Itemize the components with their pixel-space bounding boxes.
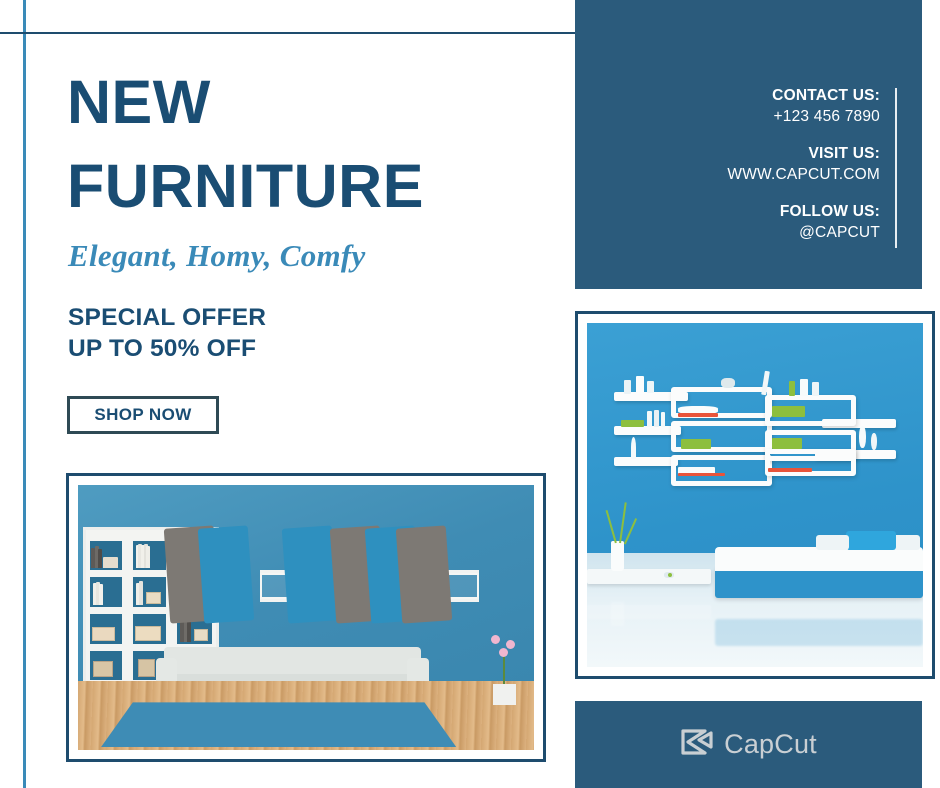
vertical-accent-line — [23, 0, 26, 788]
contact-label-phone: CONTACT US: — [727, 86, 880, 107]
cushion-teal-1 — [198, 526, 255, 625]
offer-line-1: SPECIAL OFFER — [68, 302, 266, 333]
bed-pillow-blue — [846, 531, 896, 550]
shelf-vase-tall-1 — [859, 426, 866, 448]
contact-label-website: VISIT US: — [727, 144, 880, 165]
bed-base — [715, 567, 923, 598]
capcut-logo-panel: CapCut — [575, 701, 922, 788]
shelf-red-line-1 — [678, 473, 725, 476]
area-rug — [101, 702, 457, 747]
shelf-green-box-2 — [772, 438, 802, 448]
capcut-wordmark: CapCut — [724, 729, 817, 760]
shelf-book-upright-2 — [654, 410, 658, 427]
contact-divider-line — [895, 88, 897, 248]
bedroom-photo — [587, 323, 923, 667]
shelf-bottle-2 — [812, 382, 819, 396]
living-room-photo — [78, 485, 534, 750]
shelf-green-box-3 — [681, 439, 711, 449]
cushion-grey-3 — [396, 526, 453, 625]
floating-shelf-3 — [614, 457, 678, 466]
contact-value-social[interactable]: @CAPCUT — [727, 223, 880, 244]
contact-block-website: VISIT US: WWW.CAPCUT.COM — [727, 144, 880, 186]
capcut-hourglass-icon — [680, 729, 714, 760]
contact-block-phone: CONTACT US: +123 456 7890 — [727, 86, 880, 128]
living-room-photo-frame — [66, 473, 546, 762]
bed-reflection — [715, 619, 923, 647]
shelf-lamp — [631, 437, 636, 459]
shelf-cup-2 — [636, 376, 644, 393]
plant-pot — [493, 684, 516, 705]
poster-canvas: CONTACT US: +123 456 7890 VISIT US: WWW.… — [0, 0, 940, 788]
contact-list: CONTACT US: +123 456 7890 VISIT US: WWW.… — [727, 86, 880, 244]
contact-block-social: FOLLOW US: @CAPCUT — [727, 202, 880, 244]
table-reflection — [587, 605, 711, 619]
contact-value-phone[interactable]: +123 456 7890 — [727, 107, 880, 128]
shelf-green-item — [789, 381, 796, 395]
shelf-green-box-1 — [772, 406, 806, 418]
shelf-green-book — [621, 420, 645, 427]
tagline: Elegant, Homy, Comfy — [68, 238, 366, 274]
floor-vase — [611, 541, 624, 570]
shelf-book-upright-3 — [661, 412, 665, 427]
vase-reflection — [611, 602, 624, 626]
shop-now-button[interactable]: SHOP NOW — [67, 396, 219, 434]
low-table — [587, 569, 711, 584]
shelf-bowl-small — [721, 378, 734, 388]
shelf-vase-tall-2 — [871, 433, 877, 450]
headline-line-2: FURNITURE — [67, 144, 424, 228]
contact-value-website[interactable]: WWW.CAPCUT.COM — [727, 165, 880, 186]
special-offer: SPECIAL OFFER UP TO 50% OFF — [68, 302, 266, 365]
bed-mattress — [715, 547, 923, 571]
headline-line-1: NEW — [67, 60, 424, 144]
contact-panel: CONTACT US: +123 456 7890 VISIT US: WWW.… — [575, 0, 922, 289]
shelf-bottle-1 — [800, 379, 807, 396]
shelf-box-6 — [765, 449, 856, 477]
bed-pillow-white-1 — [816, 535, 850, 550]
shelf-book-upright-1 — [647, 411, 651, 427]
offer-line-2: UP TO 50% OFF — [68, 333, 266, 364]
shelf-red-book — [678, 413, 718, 417]
shelf-red-line-2 — [768, 468, 812, 471]
bedroom-photo-frame — [575, 311, 935, 679]
page-title: NEW FURNITURE — [67, 60, 424, 228]
contact-label-social: FOLLOW US: — [727, 202, 880, 223]
shelf-cup-3 — [647, 381, 653, 393]
shelf-cup-1 — [624, 380, 631, 394]
